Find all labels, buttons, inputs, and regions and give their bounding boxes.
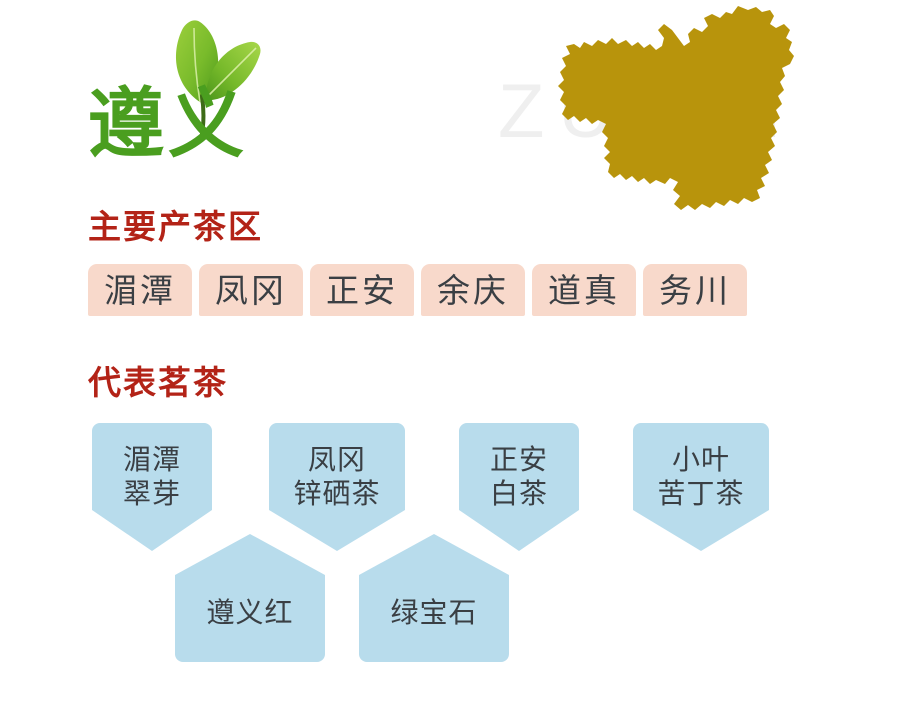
section-heading-regions: 主要产茶区 [88, 210, 263, 243]
region-tag-row: 湄潭 凤冈 正安 余庆 道真 务川 [88, 264, 747, 316]
tea-badge[interactable]: 湄潭 翠芽 [92, 423, 212, 551]
tea-badge[interactable]: 正安 白茶 [459, 423, 579, 551]
tea-badge[interactable]: 小叶 苦丁茶 [633, 423, 769, 551]
map-block: ZUNYI [492, 0, 892, 225]
tea-badge[interactable]: 遵义红 [175, 534, 325, 662]
tea-badge-label: 湄潭 翠芽 [92, 443, 212, 511]
region-tag[interactable]: 务川 [643, 264, 747, 316]
tea-badge-label: 正安 白茶 [459, 443, 579, 511]
region-tag[interactable]: 湄潭 [88, 264, 192, 316]
region-tag[interactable]: 正安 [310, 264, 414, 316]
infographic-page: 遵义 ZUNYI 主要产茶区 湄潭 凤冈 正安 余庆 道真 务川 代表茗茶 湄潭… [0, 0, 900, 708]
zunyi-map-silhouette-icon [552, 2, 852, 222]
logo-block: 遵义 [84, 14, 354, 184]
region-tag[interactable]: 余庆 [421, 264, 525, 316]
region-tag[interactable]: 凤冈 [199, 264, 303, 316]
section-heading-teas: 代表茗茶 [88, 366, 228, 399]
tea-badge-label: 绿宝石 [359, 596, 509, 630]
region-tag[interactable]: 道真 [532, 264, 636, 316]
tea-badge[interactable]: 绿宝石 [359, 534, 509, 662]
tea-badge-label: 小叶 苦丁茶 [633, 443, 769, 511]
logo-text: 遵义 [88, 86, 248, 162]
tea-badge-label: 遵义红 [175, 596, 325, 630]
tea-badge-label: 凤冈 锌硒茶 [269, 443, 405, 511]
tea-badge[interactable]: 凤冈 锌硒茶 [269, 423, 405, 551]
